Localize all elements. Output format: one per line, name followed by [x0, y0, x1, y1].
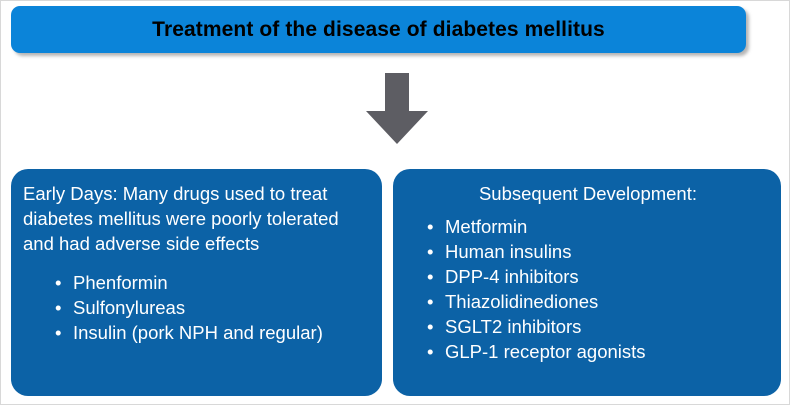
bullet-icon: •: [427, 339, 433, 364]
slide-canvas: Treatment of the disease of diabetes mel…: [0, 0, 790, 405]
bullet-icon: •: [427, 314, 433, 339]
bullet-icon: •: [427, 239, 433, 264]
bullet-icon: •: [55, 295, 61, 320]
list-item-label: Thiazolidinediones: [445, 291, 598, 312]
early-days-paragraph: Early Days: Many drugs used to treat dia…: [23, 181, 372, 256]
list-item: • Metformin: [427, 214, 771, 239]
list-item: • SGLT2 inhibitors: [427, 314, 771, 339]
list-item-label: Sulfonylureas: [73, 297, 185, 318]
list-item: • Sulfonylureas: [55, 295, 372, 320]
list-item-label: Human insulins: [445, 241, 571, 262]
list-item-label: Phenformin: [73, 272, 168, 293]
bullet-icon: •: [427, 289, 433, 314]
list-item-label: Insulin (pork NPH and regular): [73, 322, 323, 343]
subsequent-development-box: Subsequent Development: • Metformin • Hu…: [393, 169, 781, 396]
bullet-icon: •: [55, 320, 61, 345]
subsequent-development-heading: Subsequent Development:: [405, 181, 771, 206]
early-days-bullet-list: • Phenformin • Sulfonylureas • Insulin (…: [23, 270, 372, 345]
page-title: Treatment of the disease of diabetes mel…: [152, 18, 605, 42]
bullet-icon: •: [55, 270, 61, 295]
list-item-label: DPP-4 inhibitors: [445, 266, 579, 287]
early-days-box: Early Days: Many drugs used to treat dia…: [11, 169, 382, 396]
list-item-label: GLP-1 receptor agonists: [445, 341, 646, 362]
bullet-icon: •: [427, 264, 433, 289]
bullet-icon: •: [427, 214, 433, 239]
list-item: • Human insulins: [427, 239, 771, 264]
title-banner: Treatment of the disease of diabetes mel…: [11, 6, 746, 53]
list-item: • GLP-1 receptor agonists: [427, 339, 771, 364]
list-item-label: SGLT2 inhibitors: [445, 316, 581, 337]
list-item: • Phenformin: [55, 270, 372, 295]
list-item: • DPP-4 inhibitors: [427, 264, 771, 289]
subsequent-development-bullet-list: • Metformin • Human insulins • DPP-4 inh…: [405, 214, 771, 364]
list-item: • Insulin (pork NPH and regular): [55, 320, 372, 345]
list-item-label: Metformin: [445, 216, 527, 237]
down-arrow-icon: [362, 73, 432, 145]
list-item: • Thiazolidinediones: [427, 289, 771, 314]
